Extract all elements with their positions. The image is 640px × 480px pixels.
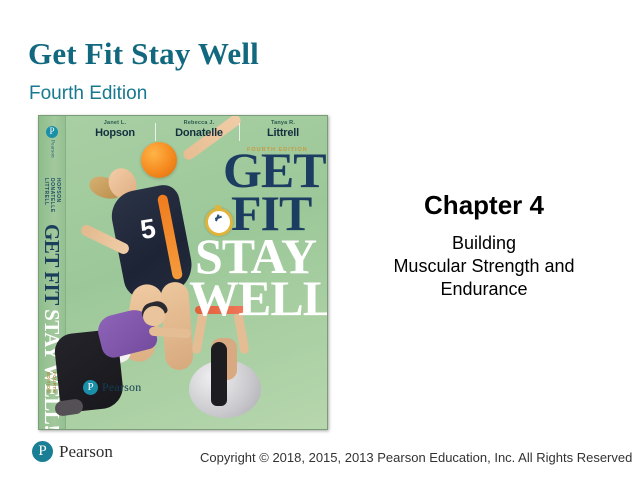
pearson-mark-icon <box>32 441 53 462</box>
cover-author-3-last: Littrell <box>241 127 325 139</box>
cover-author-2-first: Rebecca J. <box>157 120 241 126</box>
cover-pearson-label: Pearson <box>102 380 141 395</box>
cover-author-3: Tanya R. Littrell <box>241 120 325 139</box>
cover-author-2: Rebecca J. Donatelle <box>157 120 241 139</box>
cover-author-3-first: Tanya R. <box>241 120 325 126</box>
cover-author-2-last: Donatelle <box>157 127 241 139</box>
chapter-heading: Chapter 4 <box>354 190 614 221</box>
volleyball-orange-icon <box>141 142 177 178</box>
athlete-jersey-number: 5 <box>134 212 162 245</box>
edition-subtitle: Fourth Edition <box>29 83 147 105</box>
ball-person-hair <box>211 342 227 406</box>
spine-edition: FOURTH EDITION <box>45 372 57 402</box>
slide-canvas: Get Fit Stay Well Fourth Edition Pearson… <box>0 0 640 480</box>
book-cover-image: Pearson HOPSON DONATELLE LITTRELL GET FI… <box>38 115 328 430</box>
spine-pearson-label: Pearson <box>50 140 55 158</box>
cover-author-1-first: Janet L. <box>73 120 157 126</box>
footer-pearson-label: Pearson <box>59 442 113 462</box>
stretching-person-shoe <box>54 398 84 417</box>
spine-pearson-logo: Pearson <box>44 126 60 158</box>
cover-pearson-logo: Pearson <box>83 380 141 395</box>
chapter-subtitle: Building Muscular Strength and Endurance <box>354 232 614 301</box>
copyright-notice: Copyright © 2018, 2015, 2013 Pearson Edu… <box>200 450 620 465</box>
page-title: Get Fit Stay Well <box>28 36 259 72</box>
spine-title-dark: GET FIT <box>40 224 64 309</box>
stopwatch-icon <box>205 208 233 236</box>
cover-author-1-last: Hopson <box>73 127 157 139</box>
cover-author-1: Janet L. Hopson <box>73 120 157 139</box>
pearson-mark-icon <box>46 126 58 138</box>
spine-authors: HOPSON DONATELLE LITTRELL <box>43 178 61 222</box>
footer-pearson-logo: Pearson <box>32 441 113 462</box>
cover-title-well: WELL! <box>189 276 328 320</box>
pearson-mark-icon <box>83 380 98 395</box>
